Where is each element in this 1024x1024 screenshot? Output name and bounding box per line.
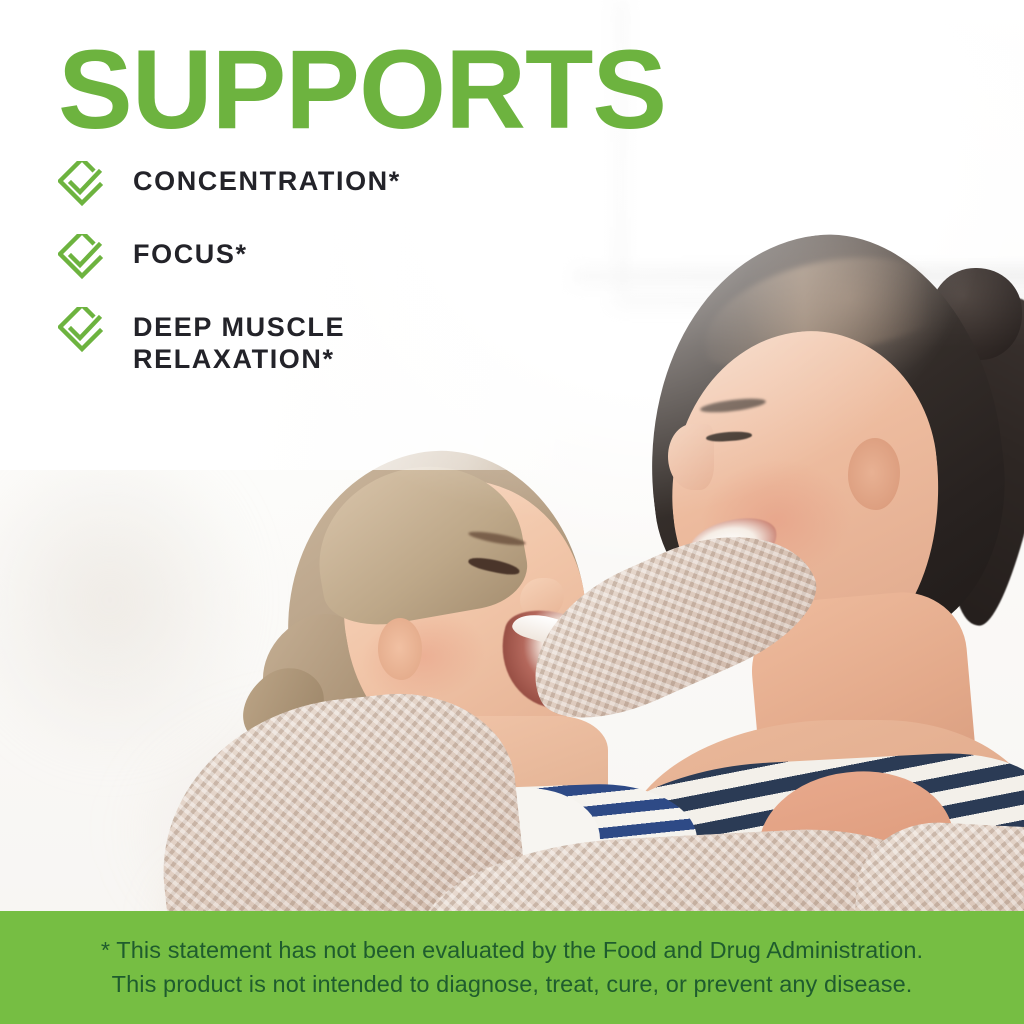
lifestyle-photo [0, 0, 1024, 1024]
check-diamond-icon [58, 161, 106, 209]
woman-ear [848, 438, 900, 510]
benefit-item-concentration: CONCENTRATION* [58, 160, 528, 209]
disclaimer-line-1: * This statement has not been evaluated … [101, 934, 923, 967]
benefit-label: FOCUS* [133, 233, 248, 271]
check-diamond-icon [58, 307, 106, 355]
benefit-item-deep-muscle-relaxation: DEEP MUSCLE RELAXATION* [58, 306, 528, 376]
product-benefit-banner: SUPPORTS CONCENTRATION* [0, 0, 1024, 1024]
girl-ear [378, 618, 422, 680]
disclaimer-line-2: This product is not intended to diagnose… [112, 968, 913, 1001]
page-title: SUPPORTS [58, 34, 666, 146]
fda-disclaimer-banner: * This statement has not been evaluated … [0, 911, 1024, 1024]
benefit-item-focus: FOCUS* [58, 233, 528, 282]
benefit-list: CONCENTRATION* FOCUS* [58, 160, 528, 376]
benefit-label: CONCENTRATION* [133, 160, 401, 198]
woman-nose [668, 424, 714, 490]
check-diamond-icon [58, 234, 106, 282]
benefit-label: DEEP MUSCLE RELAXATION* [133, 306, 345, 376]
